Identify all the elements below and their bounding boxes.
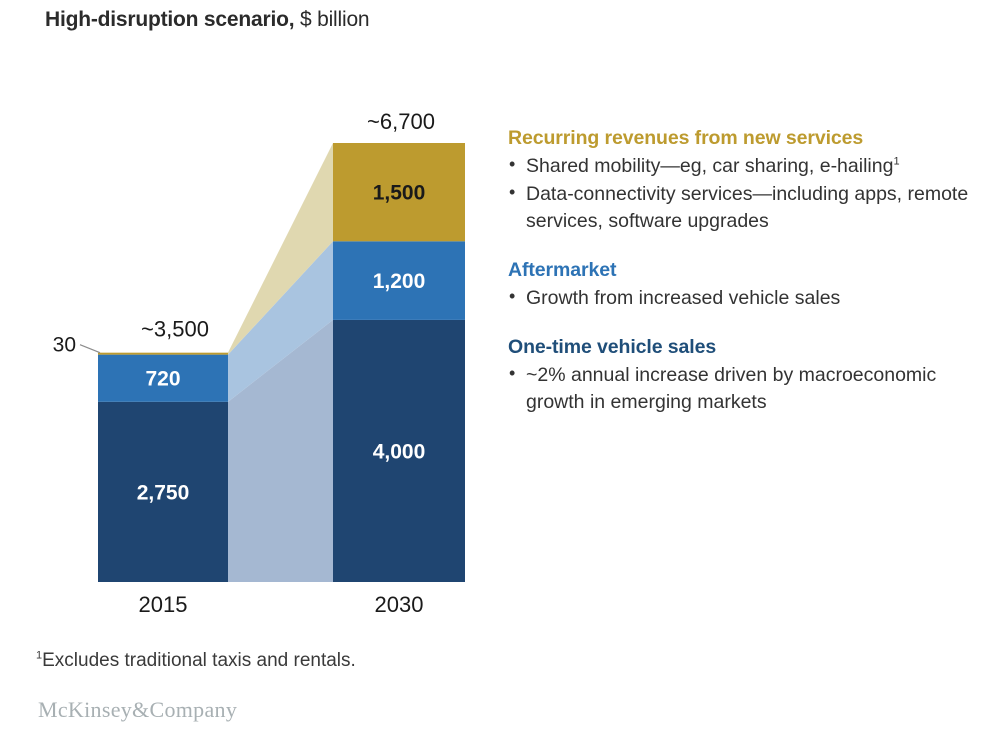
bar-value-2015-aftermarket: 720	[145, 368, 180, 391]
legend-bullet: Data-connectivity services—including app…	[508, 181, 978, 236]
footnote-text: Excludes traditional taxis and rentals.	[42, 650, 356, 671]
legend-bullet: Shared mobility—eg, car sharing, e-haili…	[508, 153, 978, 181]
legend-bullet-text: Growth from increased vehicle sales	[526, 287, 840, 309]
x-axis-label-2015: 2015	[139, 592, 188, 617]
legend-bullet-text: ~2% annual increase driven by macroecono…	[526, 364, 936, 414]
bar-value-2030-recurring-revenues: 1,500	[373, 182, 426, 205]
legend-heading-recurring-revenues: Recurring revenues from new services	[508, 126, 978, 151]
bar-value-2015-recurring-revenues: 30	[53, 334, 76, 357]
legend-bullet: ~2% annual increase driven by macroecono…	[508, 362, 978, 417]
legend-group-recurring-revenues: Recurring revenues from new services Sha…	[508, 126, 978, 236]
x-axis-label-2030: 2030	[375, 592, 424, 617]
legend-bullets-aftermarket: Growth from increased vehicle sales	[508, 285, 978, 313]
bar-segment-2015-recurring-revenues[interactable]	[98, 353, 228, 355]
callout-leader-line	[80, 345, 100, 353]
legend-panel: Recurring revenues from new services Sha…	[508, 126, 978, 417]
stacked-bar-chart: 2,750 720 30 4,000 1,200 1,500 ~3,500 ~6…	[0, 0, 500, 625]
legend-bullets-recurring-revenues: Shared mobility—eg, car sharing, e-haili…	[508, 153, 978, 236]
legend-group-aftermarket: Aftermarket Growth from increased vehicl…	[508, 258, 978, 313]
chart-canvas: 2,750 720 30 4,000 1,200 1,500 ~3,500 ~6…	[0, 0, 500, 625]
bar-value-2030-aftermarket: 1,200	[373, 270, 426, 293]
footnote: 1Excludes traditional taxis and rentals.	[36, 650, 356, 672]
mckinsey-logo: McKinsey&Company	[38, 697, 237, 723]
footnote-marker: 1	[893, 155, 899, 167]
legend-heading-one-time-vehicle-sales: One-time vehicle sales	[508, 335, 978, 360]
legend-heading-aftermarket: Aftermarket	[508, 258, 978, 283]
legend-bullets-one-time-vehicle-sales: ~2% annual increase driven by macroecono…	[508, 362, 978, 417]
legend-group-one-time-vehicle-sales: One-time vehicle sales ~2% annual increa…	[508, 335, 978, 417]
legend-bullet-text: Data-connectivity services—including app…	[526, 183, 968, 233]
legend-bullet-text: Shared mobility—eg, car sharing, e-haili…	[526, 155, 893, 177]
bar-value-2030-one-time-vehicle-sales: 4,000	[373, 440, 426, 463]
bar-total-2015: ~3,500	[141, 317, 209, 342]
legend-bullet: Growth from increased vehicle sales	[508, 285, 978, 313]
bar-total-2030: ~6,700	[367, 109, 435, 134]
bar-value-2015-one-time-vehicle-sales: 2,750	[137, 481, 190, 504]
